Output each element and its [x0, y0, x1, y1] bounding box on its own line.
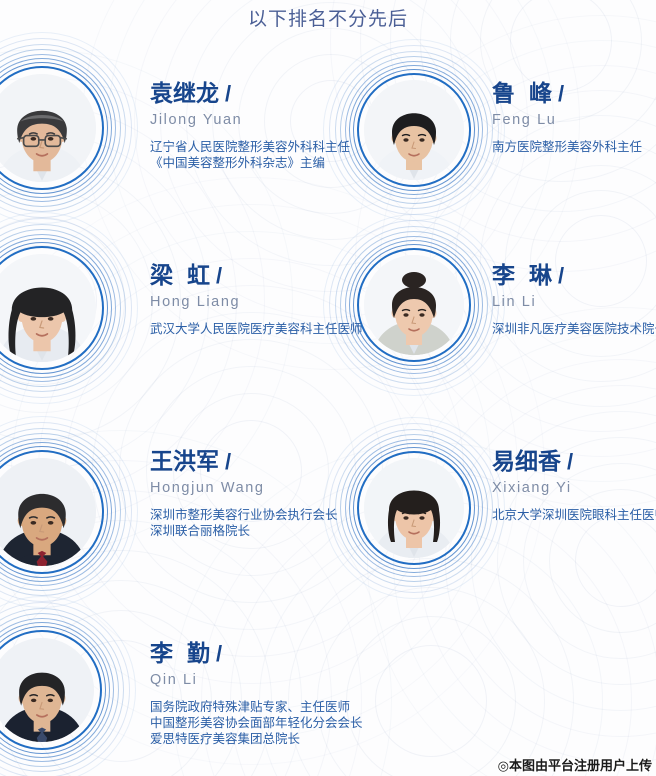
expert-description-line: 中国整形美容协会面部年轻化分会会长 [150, 715, 363, 731]
expert-description: 国务院政府特殊津贴专家、主任医师中国整形美容协会面部年轻化分会会长爱思特医疗美容… [150, 699, 363, 747]
expert-name-cn-text: 易细香 [492, 448, 561, 474]
expert-description: 南方医院整形美容外科主任 [492, 139, 642, 155]
avatar [323, 39, 505, 221]
avatar-photo [364, 255, 464, 355]
avatar [0, 596, 136, 776]
expert-name-en: Feng Lu [492, 110, 642, 130]
expert-name-cn: 梁虹/ [150, 262, 363, 289]
avatar-photo [364, 458, 464, 558]
expert-info: 李勤/Qin Li国务院政府特殊津贴专家、主任医师中国整形美容协会面部年轻化分会… [150, 640, 363, 747]
name-slash: / [225, 81, 231, 106]
expert-description-line: 深圳非凡医疗美容医院技术院长 [492, 321, 656, 337]
expert-description-line: 辽宁省人民医院整形美容外科科主任 [150, 139, 350, 155]
name-slash: / [216, 263, 222, 288]
expert-description-line: 深圳联合丽格院长 [150, 523, 338, 539]
expert-name-cn-text: 李琳 [492, 262, 566, 288]
name-slash: / [216, 641, 222, 666]
avatar-photo [364, 80, 464, 180]
avatar [323, 417, 505, 599]
expert-name-cn: 鲁峰/ [492, 80, 642, 107]
name-slash: / [567, 449, 573, 474]
expert-name-en: Qin Li [150, 670, 363, 690]
expert-description-line: 国务院政府特殊津贴专家、主任医师 [150, 699, 363, 715]
expert-description: 武汉大学人民医院医疗美容科主任医师 [150, 321, 363, 337]
expert-info: 鲁峰/Feng Lu南方医院整形美容外科主任 [492, 80, 642, 155]
expert-name-en: Hong Liang [150, 292, 363, 312]
expert-description-line: 武汉大学人民医院医疗美容科主任医师 [150, 321, 363, 337]
expert-info: 袁继龙/Jilong Yuan辽宁省人民医院整形美容外科科主任《中国美容整形外科… [150, 80, 350, 171]
expert-name-cn: 王洪军/ [150, 448, 338, 475]
expert-info: 梁虹/Hong Liang武汉大学人民医院医疗美容科主任医师 [150, 262, 363, 337]
expert-name-cn: 易细香/ [492, 448, 656, 475]
expert-name-cn: 李勤/ [150, 640, 363, 667]
page-title: 以下排名不分先后 [0, 4, 656, 31]
expert-name-cn-text: 梁虹 [150, 262, 224, 288]
expert-name-cn: 李琳/ [492, 262, 656, 289]
expert-name-en: Jilong Yuan [150, 110, 350, 130]
expert-name-en: Lin Li [492, 292, 656, 312]
expert-info: 李琳/Lin Li深圳非凡医疗美容医院技术院长 [492, 262, 656, 337]
expert-name-cn: 袁继龙/ [150, 80, 350, 107]
expert-name-cn-text: 鲁峰 [492, 80, 566, 106]
expert-info: 易细香/Xixiang Yi北京大学深圳医院眼科主任医师 [492, 448, 656, 523]
expert-list-page: 以下排名不分先后 袁继龙/Jilong Yuan辽宁省人民医院整形美容外科科主任… [0, 0, 656, 776]
avatar [0, 212, 138, 404]
expert-description: 深圳非凡医疗美容医院技术院长 [492, 321, 656, 337]
expert-name-en: Xixiang Yi [492, 478, 656, 498]
expert-description: 深圳市整形美容行业协会执行会长深圳联合丽格院长 [150, 507, 338, 539]
watermark-text: ◎本图由平台注册用户上传 [498, 755, 652, 774]
expert-description-line: 南方医院整形美容外科主任 [492, 139, 642, 155]
avatar [0, 416, 138, 608]
name-slash: / [225, 449, 231, 474]
name-slash: / [558, 263, 564, 288]
expert-description-line: 北京大学深圳医院眼科主任医师 [492, 507, 656, 523]
expert-name-en: Hongjun Wang [150, 478, 338, 498]
expert-name-cn-text: 袁继龙 [150, 80, 219, 106]
expert-description: 北京大学深圳医院眼科主任医师 [492, 507, 656, 523]
name-slash: / [558, 81, 564, 106]
expert-description: 辽宁省人民医院整形美容外科科主任《中国美容整形外科杂志》主编 [150, 139, 350, 171]
avatar [0, 32, 138, 224]
expert-name-cn-text: 王洪军 [150, 448, 219, 474]
expert-name-cn-text: 李勤 [150, 640, 224, 666]
expert-description-line: 爱思特医疗美容集团总院长 [150, 731, 363, 747]
expert-description-line: 深圳市整形美容行业协会执行会长 [150, 507, 338, 523]
expert-info: 王洪军/Hongjun Wang深圳市整形美容行业协会执行会长深圳联合丽格院长 [150, 448, 338, 539]
expert-description-line: 《中国美容整形外科杂志》主编 [150, 155, 350, 171]
